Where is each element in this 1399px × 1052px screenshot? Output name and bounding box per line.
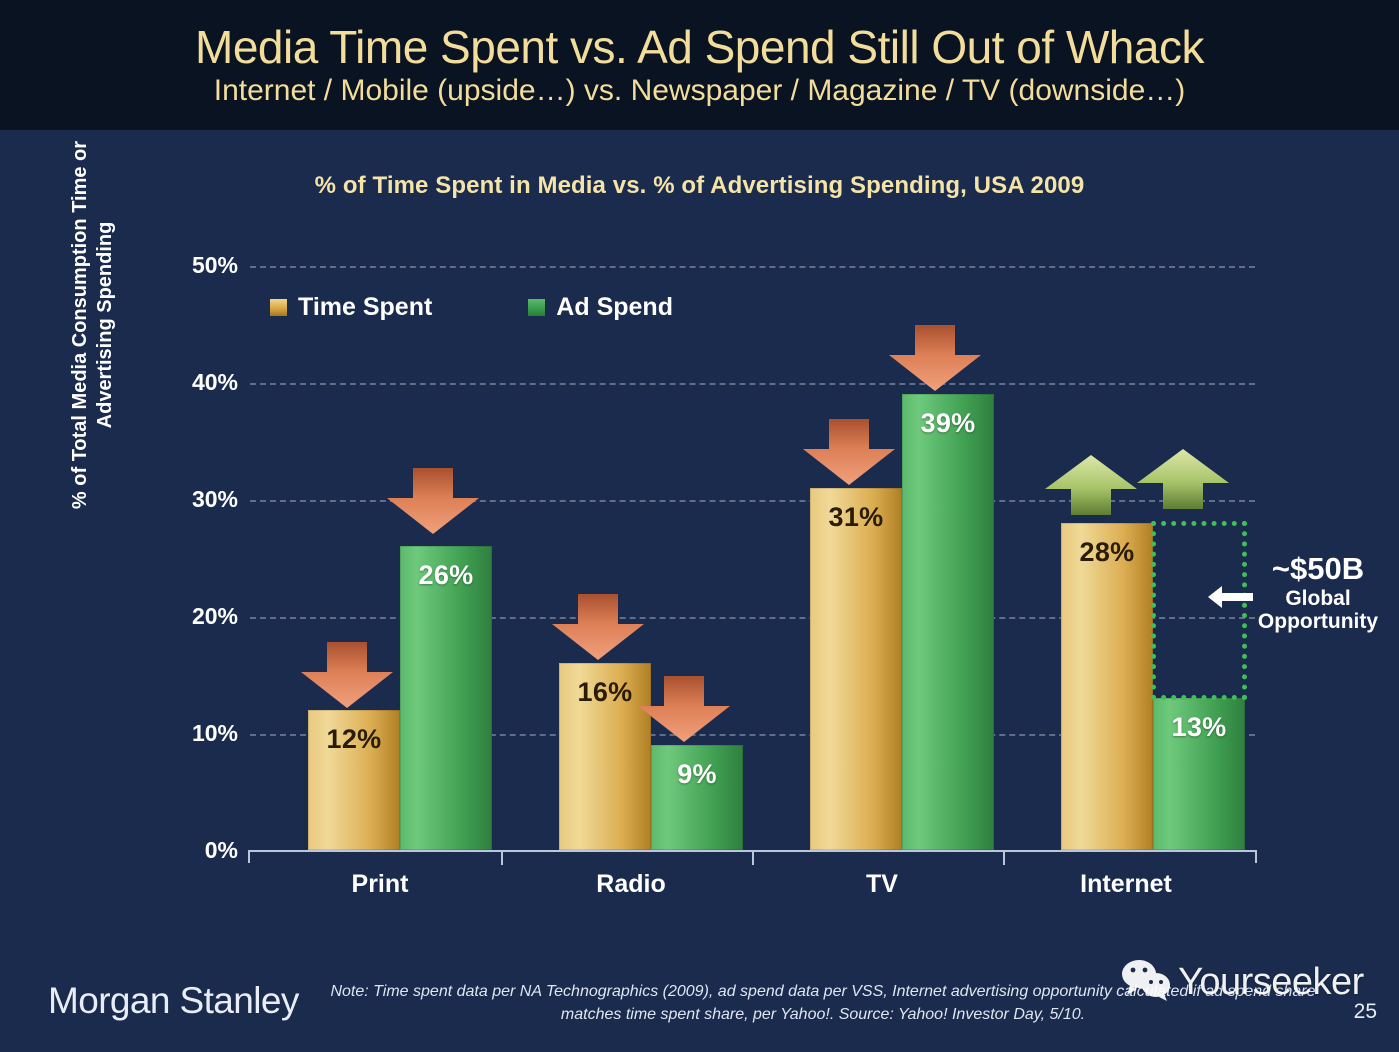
y-tick-30: 30% [148,486,238,513]
down-arrow-tv-ad-spend [887,325,983,393]
y-tick-0: 0% [148,837,238,864]
bar-radio-ad-spend[interactable]: 9% [651,745,743,850]
y-tick-10: 10% [148,720,238,747]
bar-print-ad-spend[interactable]: 26% [400,546,492,850]
down-arrow-print-time-spent [299,642,395,710]
bar-internet-ad-spend[interactable]: 13% [1153,698,1245,850]
bar-label: 39% [902,408,994,439]
y-tick-20: 20% [148,603,238,630]
slide-header: Media Time Spent vs. Ad Spend Still Out … [0,0,1399,130]
up-arrow-internet-time-spent [1043,455,1139,517]
legend-label: Time Spent [298,293,432,322]
bar-label: 26% [400,560,492,591]
x-category-radio: Radio [505,870,757,899]
bar-label: 13% [1153,712,1245,743]
plot-area: 12% 26% 16% 9% 31% 39% 28% 13% [250,266,1255,850]
down-arrow-print-ad-spend [385,468,481,536]
y-tick-40: 40% [148,369,238,396]
page-number: 25 [1354,1000,1377,1024]
bar-label: 31% [810,502,902,533]
down-arrow-radio-time-spent [550,594,646,662]
legend-swatch-icon [270,299,287,316]
x-axis-cap-left [248,851,250,863]
gridline-40 [250,383,1255,385]
bar-label: 9% [651,759,743,790]
down-arrow-radio-ad-spend [636,676,732,744]
chart-title: % of Time Spent in Media vs. % of Advert… [0,172,1399,200]
x-axis-tick-3 [1003,851,1005,865]
x-axis-tick-2 [752,851,754,865]
opportunity-line2: Opportunity [1238,610,1398,634]
footnote-text: Note: Time spent data per NA Technograph… [318,980,1328,1026]
chart-legend: Time Spent Ad Spend [270,293,673,322]
page-title: Media Time Spent vs. Ad Spend Still Out … [195,23,1204,71]
opportunity-annotation: ~$50B Global Opportunity [1238,552,1398,634]
legend-label: Ad Spend [556,293,673,322]
bar-tv-time-spent[interactable]: 31% [810,488,902,850]
down-arrow-tv-time-spent [801,419,897,487]
x-axis-tick-1 [501,851,503,865]
morgan-stanley-logo: Morgan Stanley [48,980,299,1022]
bar-label: 28% [1061,537,1153,568]
legend-item-time-spent[interactable]: Time Spent [270,293,432,322]
y-axis-label: % of Total Media Consumption Time or Adv… [68,115,118,535]
legend-item-ad-spend[interactable]: Ad Spend [528,293,673,322]
slide-canvas: Media Time Spent vs. Ad Spend Still Out … [0,0,1399,1052]
x-category-print: Print [254,870,506,899]
bar-internet-time-spent[interactable]: 28% [1061,523,1153,850]
gridline-50 [250,266,1255,268]
bar-label: 12% [308,724,400,755]
page-subtitle: Internet / Mobile (upside…) vs. Newspape… [214,75,1186,107]
opportunity-amount: ~$50B [1238,552,1398,587]
x-category-tv: TV [756,870,1008,899]
bar-print-time-spent[interactable]: 12% [308,710,400,850]
up-arrow-internet-ad-spend [1135,449,1231,511]
opportunity-line1: Global [1238,587,1398,611]
legend-swatch-icon [528,299,545,316]
y-tick-50: 50% [148,252,238,279]
x-category-internet: Internet [1000,870,1252,899]
x-axis-cap-right [1255,851,1257,863]
bar-tv-ad-spend[interactable]: 39% [902,394,994,850]
